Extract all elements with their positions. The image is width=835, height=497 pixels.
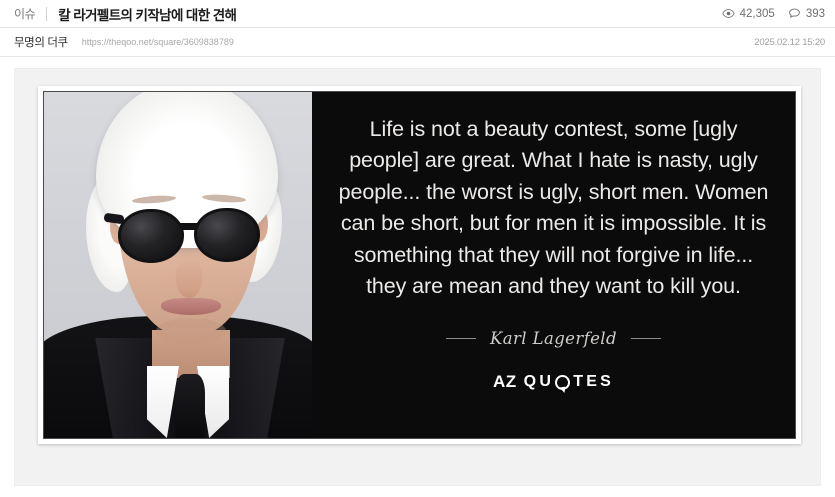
quote-attribution: Karl Lagerfeld — [446, 329, 661, 348]
azquotes-logo-quotes-post: TES — [573, 373, 614, 391]
portrait-sunglass-lens-right — [194, 208, 260, 262]
karl-lagerfeld-portrait — [44, 92, 312, 438]
portrait-nose — [176, 260, 202, 298]
portrait-tie — [175, 374, 205, 438]
portrait-lips — [161, 298, 221, 315]
azquotes-logo: AZ QU TES — [493, 372, 614, 392]
post-header: 이슈 칼 라거펠트의 키작남에 대한 견해 42,305 393 — [0, 0, 835, 28]
post-date: 2025.02.12 15:20 — [754, 37, 825, 48]
comment-count-value: 393 — [806, 8, 825, 20]
portrait-chin — [156, 318, 226, 344]
header-stats: 42,305 393 — [722, 7, 825, 20]
attribution-name: Karl Lagerfeld — [490, 329, 617, 348]
post-category[interactable]: 이슈 — [14, 5, 35, 22]
azquotes-logo-quotes: QU TES — [524, 373, 614, 391]
attribution-dash-right — [631, 338, 661, 339]
quote-image-frame: Life is not a beauty contest, some [ugly… — [43, 91, 796, 439]
post-content-container: Life is not a beauty contest, some [ugly… — [14, 68, 821, 486]
quote-image-card[interactable]: Life is not a beauty contest, some [ugly… — [38, 86, 801, 444]
speech-bubble-icon — [555, 375, 570, 390]
quote-text: Life is not a beauty contest, some [ugly… — [332, 114, 775, 302]
page-title: 칼 라거펠트의 키작남에 대한 견해 — [58, 4, 236, 24]
post-url[interactable]: https://theqoo.net/square/3609838789 — [82, 37, 234, 47]
header-divider — [46, 7, 47, 21]
eye-icon — [722, 7, 735, 20]
quote-text-panel: Life is not a beauty contest, some [ugly… — [312, 92, 795, 438]
azquotes-logo-quotes-pre: QU — [524, 373, 554, 391]
view-count: 42,305 — [722, 7, 775, 20]
view-count-value: 42,305 — [740, 8, 775, 20]
azquotes-logo-az: AZ — [493, 372, 517, 392]
post-meta-row: 무명의 더쿠 https://theqoo.net/square/3609838… — [0, 28, 835, 57]
post-author[interactable]: 무명의 더쿠 — [14, 34, 68, 50]
portrait-sunglass-lens-left — [118, 209, 184, 263]
comment-icon — [788, 7, 801, 20]
post-content-area: Life is not a beauty contest, some [ugly… — [0, 58, 835, 497]
comment-count[interactable]: 393 — [788, 7, 825, 20]
attribution-dash-left — [446, 338, 476, 339]
